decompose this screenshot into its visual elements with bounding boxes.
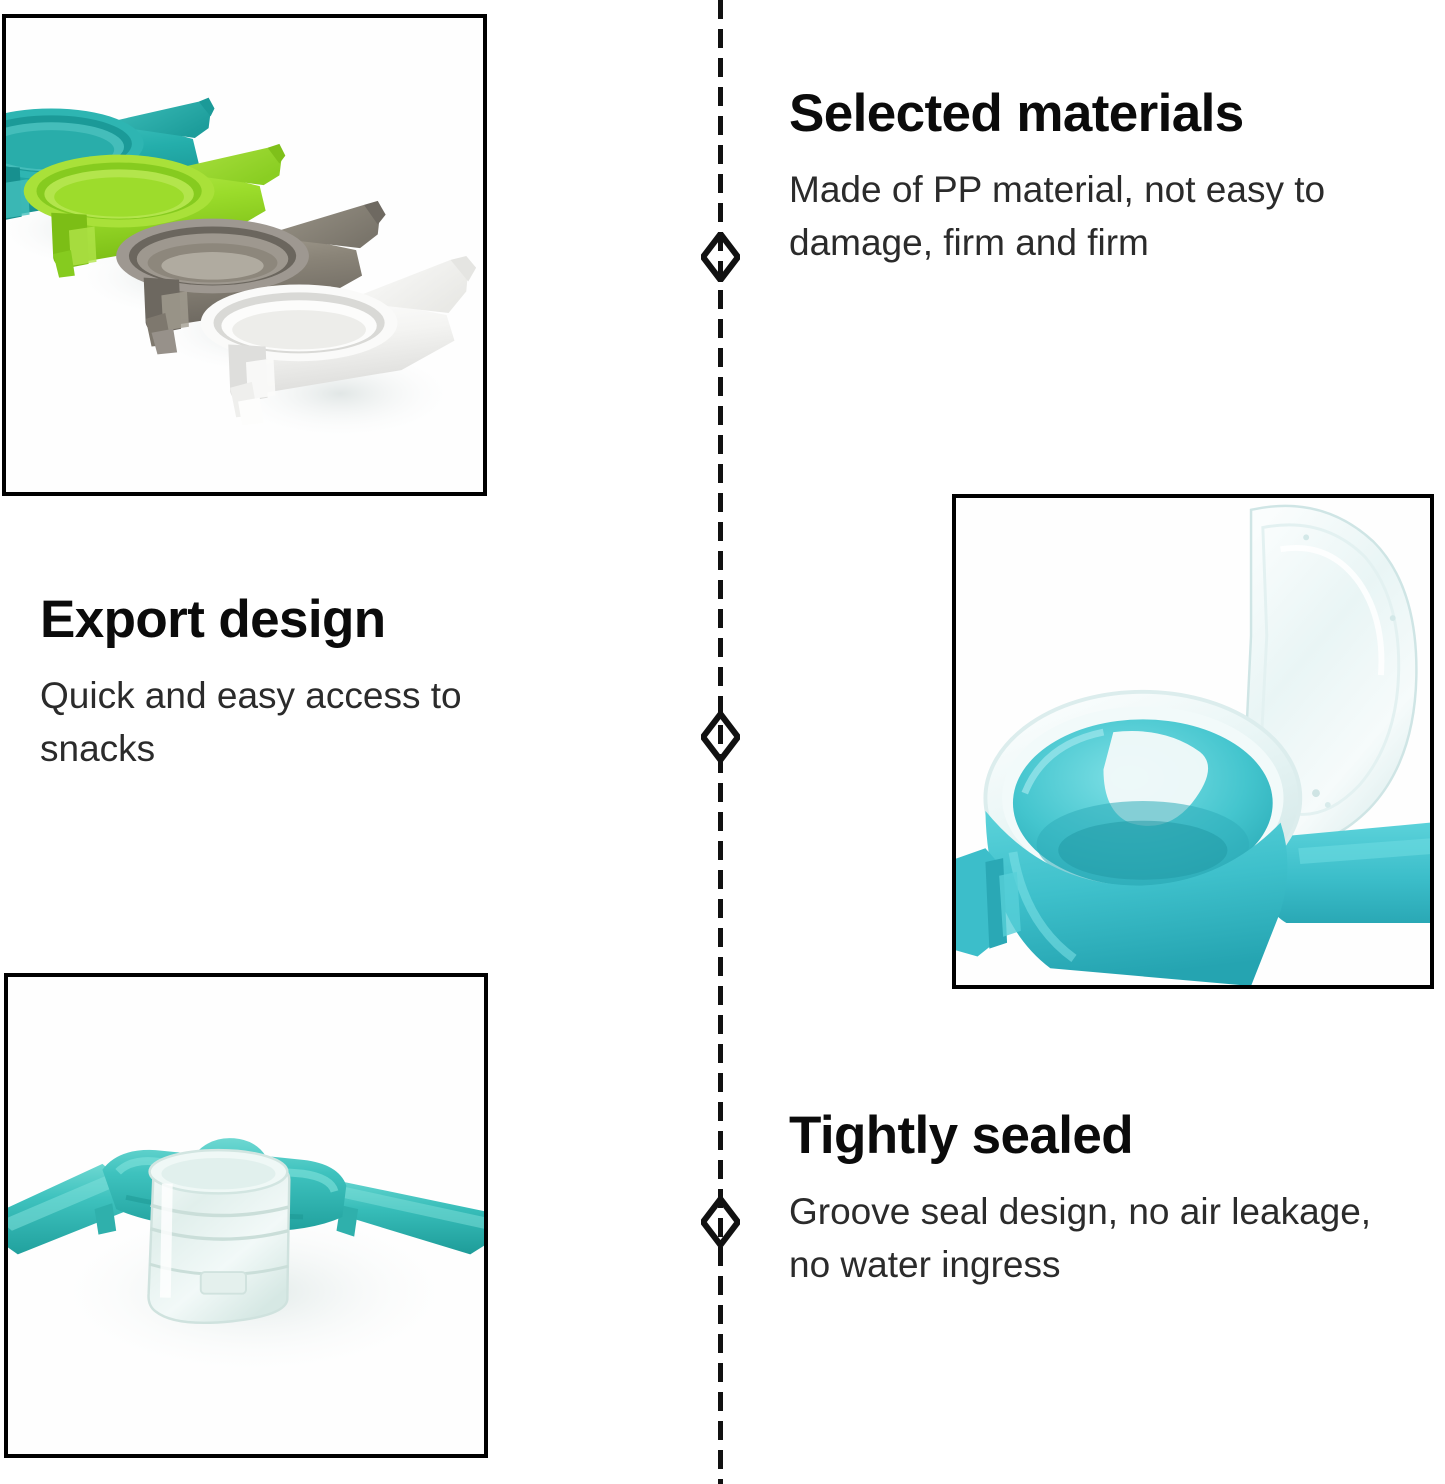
feature-description-export-design: Quick and easy access to snacks (40, 670, 560, 775)
feature-description-selected-materials: Made of PP material, not easy to damage,… (789, 164, 1409, 269)
diamond-node-icon-3 (701, 1197, 740, 1247)
feature-block-selected-materials: Selected materials Made of PP material, … (789, 86, 1409, 269)
product-photo-four-sealer-clips (2, 14, 487, 496)
open-lid-closeup-illustration (956, 498, 1430, 985)
product-feature-infographic: Selected materials Made of PP material, … (0, 0, 1445, 1484)
product-photo-open-lid-closeup (952, 494, 1434, 989)
four-sealer-clips-illustration (6, 18, 483, 492)
translucent-pour-spout (149, 1150, 290, 1323)
feature-title-tightly-sealed: Tightly sealed (789, 1108, 1389, 1164)
feature-title-selected-materials: Selected materials (789, 86, 1409, 142)
feature-block-export-design: Export design Quick and easy access to s… (40, 592, 560, 775)
diamond-node-icon-2 (701, 712, 740, 762)
timeline-spine (718, 0, 723, 1484)
spout-underside-illustration (8, 977, 484, 1454)
feature-title-export-design: Export design (40, 592, 560, 648)
feature-block-tightly-sealed: Tightly sealed Groove seal design, no ai… (789, 1108, 1389, 1291)
product-photo-spout-underside (4, 973, 488, 1458)
feature-description-tightly-sealed: Groove seal design, no air leakage, no w… (789, 1186, 1389, 1291)
diamond-node-icon-1 (701, 232, 740, 282)
